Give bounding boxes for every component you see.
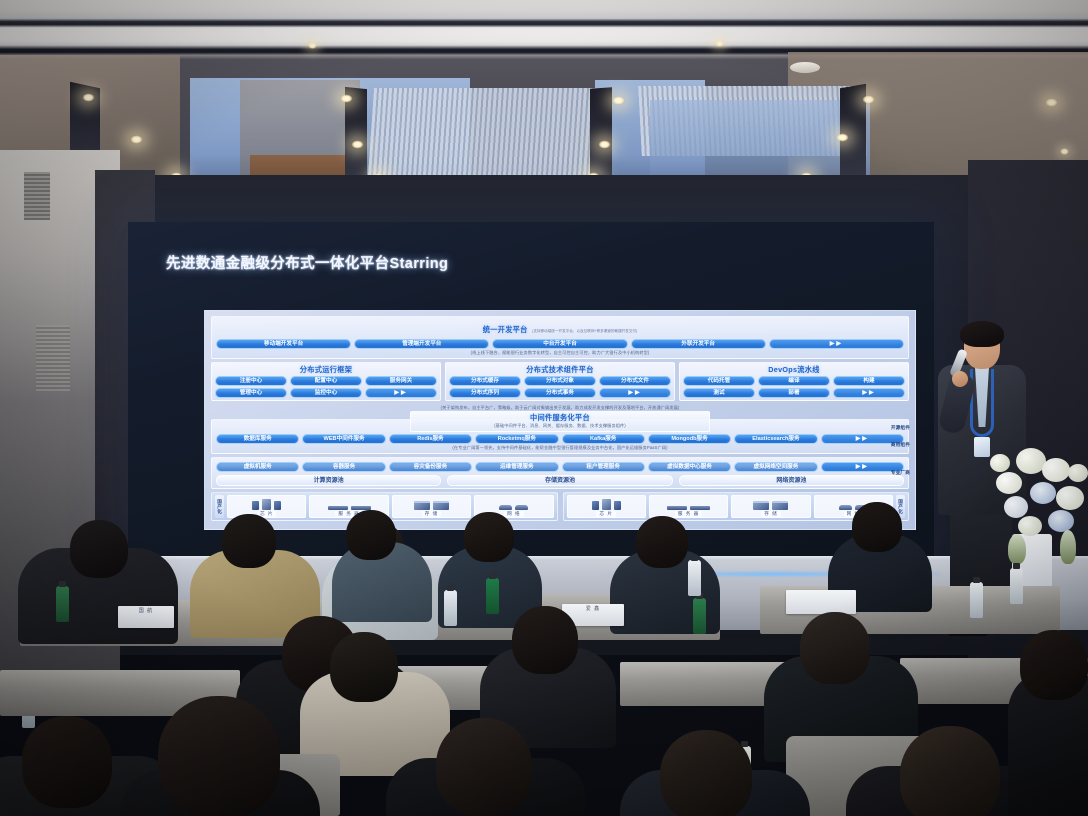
storage-icon: [414, 501, 430, 510]
footnote-middleware: (在专业广阔第一领先，支持中间件基础化，能帮金融中型银行管理规模及业务中台化，国…: [216, 445, 904, 451]
flower-bloom: [1056, 486, 1084, 510]
hardware-label-server: 服 务 器: [675, 511, 702, 517]
chip-group-cloud: 虚拟机服务 容器服务 容灾备份服务 运维管理服务 租户管理服务 虚拟数据中心服务…: [216, 462, 904, 472]
audience-person-head: [464, 512, 514, 562]
server-icon-set: [328, 497, 371, 510]
band-row-middle: 分布式运行框架 注册中心 配置中心 服务网关 管理中心 监控中心 ▶▶ 分布式技…: [211, 362, 909, 401]
right-tag-group-middleware: 开源组件 商用组件: [884, 420, 910, 453]
chip-code-hosting[interactable]: 代码托管: [683, 376, 755, 386]
chip-icon: [592, 501, 599, 510]
server-icon-set: [667, 497, 710, 510]
presenter-badge: [974, 437, 990, 457]
chip-compile[interactable]: 编译: [758, 376, 830, 386]
audience-area: 国 航 爱 鑫: [0, 520, 1088, 816]
chip-rocketmq-service[interactable]: Rocketmq服务: [475, 434, 558, 444]
audience-person-head: [330, 632, 398, 702]
chip-mobile-dev-platform[interactable]: 移动端开发平台: [216, 339, 351, 349]
right-tag-opensource: 开源组件: [884, 425, 910, 431]
storage-icon-set: [414, 497, 449, 510]
water-bottle: [56, 586, 69, 622]
conference-scene: 先进数通金融级分布式一体化平台Starring 统一开发平台 (支持移动端统一开…: [0, 0, 1088, 816]
hardware-cell-storage: 存 储: [392, 495, 471, 518]
band-title-middleware: 中间件服务化平台: [411, 413, 709, 422]
chip-registry-center[interactable]: 注册中心: [215, 376, 287, 386]
band-cloud-resources: 虚拟机服务 容器服务 容灾备份服务 运维管理服务 租户管理服务 虚拟数据中心服务…: [211, 457, 909, 489]
ceiling-spotlight: [612, 96, 625, 105]
pool-storage: 存储资源池: [447, 475, 672, 486]
band-note-unified: (支持移动端统一开发平台，以及互联网+等多渠道的敏捷开发交付): [532, 329, 637, 333]
smoke-detector-icon: [790, 62, 820, 73]
flower-bloom: [990, 454, 1010, 472]
chip-dr-backup-service[interactable]: 容灾备份服务: [389, 462, 472, 472]
col-distributed-runtime: 分布式运行框架 注册中心 配置中心 服务网关 管理中心 监控中心 ▶▶: [211, 362, 441, 401]
chip-distributed-cache[interactable]: 分布式缓存: [449, 376, 521, 386]
audience-person-head: [636, 516, 688, 568]
chip-icon-set: [592, 497, 621, 510]
audience-person-head: [222, 514, 276, 568]
chip-group-tech: 分布式缓存 分布式对象 分布式文件: [449, 376, 671, 386]
band-note-middleware: (基础中间件平台、消息、网关、缓存服务、数据、技术支撑服务组件): [411, 423, 709, 429]
audience-person-head: [512, 606, 578, 674]
chip-monitoring-center[interactable]: 监控中心: [290, 388, 362, 398]
namecard-text: 爱 鑫: [562, 604, 624, 614]
hardware-label-network: 网 络: [504, 511, 523, 517]
resource-pool-row: 计算资源池 存储资源池 网络资源池: [216, 475, 904, 486]
chip-elasticsearch-service[interactable]: Elasticsearch服务: [734, 434, 817, 444]
wall-vent-grille: [36, 325, 70, 391]
chip-icon-set: [252, 497, 281, 510]
audience-person-head: [70, 520, 128, 578]
presenter-lanyard: [970, 369, 994, 437]
slide-diagram: 统一开发平台 (支持移动端统一开发平台，以及互联网+等多渠道的敏捷开发交付) 移…: [204, 310, 916, 530]
chip-icon: [262, 499, 271, 510]
storage-icon-set: [753, 497, 788, 510]
chip-virtual-network-service[interactable]: 虚拟网络空间服务: [734, 462, 817, 472]
chip-deploy[interactable]: 部署: [758, 388, 830, 398]
hardware-label-chip: 芯 片: [596, 511, 615, 517]
hardware-label-storage: 存 储: [422, 511, 441, 517]
chip-group-devops-2: 测试 部署 ▶▶: [683, 388, 905, 398]
chip-more-tech[interactable]: ▶▶: [599, 388, 671, 398]
col-distributed-tech-components: 分布式技术组件平台 分布式缓存 分布式对象 分布式文件 分布式序列 分布式事务 …: [445, 362, 675, 401]
audience-person-head: [852, 502, 902, 552]
footnote-unified: (线上线下融合，赋能银行业务数字化转型，自主可控自主可控，助力广大银行及中小机构…: [216, 350, 904, 356]
ceiling-spotlight: [836, 133, 849, 142]
chip-group-runtime: 注册中心 配置中心 服务网关: [215, 376, 437, 386]
chip-more-unified[interactable]: ▶▶: [769, 339, 904, 349]
ceiling-spotlight: [340, 94, 353, 103]
namecard: [786, 590, 856, 614]
hardware-cell-server: 服 务 器: [649, 495, 728, 518]
chip-config-center[interactable]: 配置中心: [290, 376, 362, 386]
network-icon-set: [499, 497, 528, 510]
water-bottle: [486, 578, 499, 614]
chip-build[interactable]: 构建: [833, 376, 905, 386]
chip-group-tech-2: 分布式序列 分布式事务 ▶▶: [449, 388, 671, 398]
ceiling-spotlight: [308, 42, 317, 49]
right-tag-vendor: 专业厂商: [884, 470, 910, 476]
band-middleware: 中间件服务化平台 (基础中间件平台、消息、网关、缓存服务、数据、技术支撑服务组件…: [211, 419, 909, 454]
server-icon: [328, 506, 348, 510]
water-bottle: [688, 560, 701, 596]
chip-distributed-sequence[interactable]: 分布式序列: [449, 388, 521, 398]
audience-person-head: [1020, 630, 1088, 700]
hardware-cell-storage: 存 储: [731, 495, 810, 518]
chip-tenant-management-service[interactable]: 租户管理服务: [562, 462, 645, 472]
audience-person-head: [346, 510, 396, 560]
server-icon: [690, 506, 710, 510]
chip-distributed-object[interactable]: 分布式对象: [524, 376, 596, 386]
storage-icon: [433, 501, 449, 510]
water-bottle: [1010, 568, 1023, 604]
col-title-runtime: 分布式运行框架: [215, 365, 437, 374]
flower-bloom: [1068, 464, 1088, 482]
chip-test[interactable]: 测试: [683, 388, 755, 398]
water-bottle: [693, 598, 706, 634]
right-tag-group-cloud: 专业厂商: [884, 458, 910, 488]
audience-person-head: [800, 612, 870, 684]
audience-person-head: [436, 718, 532, 816]
chip-web-middleware-service[interactable]: WEB中间件服务: [302, 434, 385, 444]
col-devops-pipeline: DevOps流水线 代码托管 编译 构建 测试 部署 ▶▶: [679, 362, 909, 401]
chip-group-middleware: 数据库服务 WEB中间件服务 Redis服务 Rocketmq服务 Kafka服…: [216, 434, 904, 444]
pool-compute: 计算资源池: [216, 475, 441, 486]
ceiling-spotlight: [1045, 98, 1058, 107]
ceiling-spotlight: [82, 93, 95, 102]
chip-group-devops: 代码托管 编译 构建: [683, 376, 905, 386]
chip-kafka-service[interactable]: Kafka服务: [562, 434, 645, 444]
ceiling-spotlight: [351, 140, 364, 149]
hardware-row: 国产化 芯 片 服 务 器: [211, 492, 909, 521]
hardware-label-storage: 存 储: [761, 511, 780, 517]
server-icon: [667, 506, 687, 510]
network-icon: [499, 505, 512, 510]
chip-service-gateway[interactable]: 服务网关: [365, 376, 437, 386]
col-title-devops: DevOps流水线: [683, 365, 905, 374]
chip-group-runtime-2: 管理中心 监控中心 ▶▶: [215, 388, 437, 398]
right-tag-commercial: 商用组件: [884, 442, 910, 448]
chip-vm-service[interactable]: 虚拟机服务: [216, 462, 299, 472]
audience-person-head: [660, 730, 752, 816]
flower-bloom: [1042, 458, 1070, 482]
network-icon: [839, 505, 852, 510]
chip-icon: [252, 501, 259, 510]
chip-container-service[interactable]: 容器服务: [302, 462, 385, 472]
network-icon: [515, 505, 528, 510]
slide-title: 先进数通金融级分布式一体化平台Starring: [166, 252, 448, 273]
wall-vent-grille: [24, 172, 50, 220]
presenter-hair: [960, 321, 1004, 347]
hardware-cell-chip: 芯 片: [567, 495, 646, 518]
chip-database-service[interactable]: 数据库服务: [216, 434, 299, 444]
chip-icon: [274, 501, 281, 510]
namecard-text: 国 航: [118, 606, 174, 616]
side-tag-localization-left: 国产化: [215, 495, 224, 518]
chip-ops-management-service[interactable]: 运维管理服务: [475, 462, 558, 472]
chip-distributed-file[interactable]: 分布式文件: [599, 376, 671, 386]
chip-group-unified: 移动端开发平台 管理端开发平台 中台开发平台 外联开发平台 ▶▶: [216, 339, 904, 349]
chip-icon: [602, 499, 611, 510]
chip-more-runtime[interactable]: ▶▶: [365, 388, 437, 398]
ceiling-spotlight: [862, 95, 875, 104]
flower-bloom-blue: [1030, 482, 1056, 504]
chip-virtual-datacenter-service[interactable]: 虚拟数据中心服务: [648, 462, 731, 472]
chip-mongodb-service[interactable]: Mongodb服务: [648, 434, 731, 444]
storage-icon: [772, 501, 788, 510]
audience-person-head: [158, 696, 280, 816]
band-title-unified: 统一开发平台: [483, 325, 528, 334]
middleware-header: 中间件服务化平台 (基础中间件平台、消息、网关、缓存服务、数据、技术支撑服务组件…: [410, 411, 710, 432]
audience-person-head: [22, 716, 112, 808]
flower-bloom: [1004, 496, 1028, 518]
namecard: 国 航: [118, 606, 174, 628]
ceiling-spotlight: [1060, 148, 1069, 155]
chip-admin-dev-platform[interactable]: 管理端开发平台: [354, 339, 489, 349]
audience-person-head: [900, 726, 1000, 816]
band-unified-dev-platform: 统一开发平台 (支持移动端统一开发平台，以及互联网+等多渠道的敏捷开发交付) 移…: [211, 316, 909, 359]
pool-network: 网络资源池: [679, 475, 904, 486]
chip-management-center[interactable]: 管理中心: [215, 388, 287, 398]
flower-bloom: [996, 472, 1022, 494]
chip-midend-dev-platform[interactable]: 中台开发平台: [492, 339, 627, 349]
ceiling-spotlight: [130, 135, 143, 144]
water-bottle: [970, 582, 983, 618]
chip-redis-service[interactable]: Redis服务: [389, 434, 472, 444]
chip-distributed-transaction[interactable]: 分布式事务: [524, 388, 596, 398]
col-title-tech-components: 分布式技术组件平台: [449, 365, 671, 374]
ceiling-spotlight: [598, 140, 611, 149]
presenter-hand: [952, 371, 968, 387]
chip-more-devops[interactable]: ▶▶: [833, 388, 905, 398]
chip-icon: [614, 501, 621, 510]
storage-icon: [753, 501, 769, 510]
ceiling-spotlight: [715, 40, 724, 47]
water-bottle: [444, 590, 457, 626]
chip-external-dev-platform[interactable]: 外联开发平台: [631, 339, 766, 349]
